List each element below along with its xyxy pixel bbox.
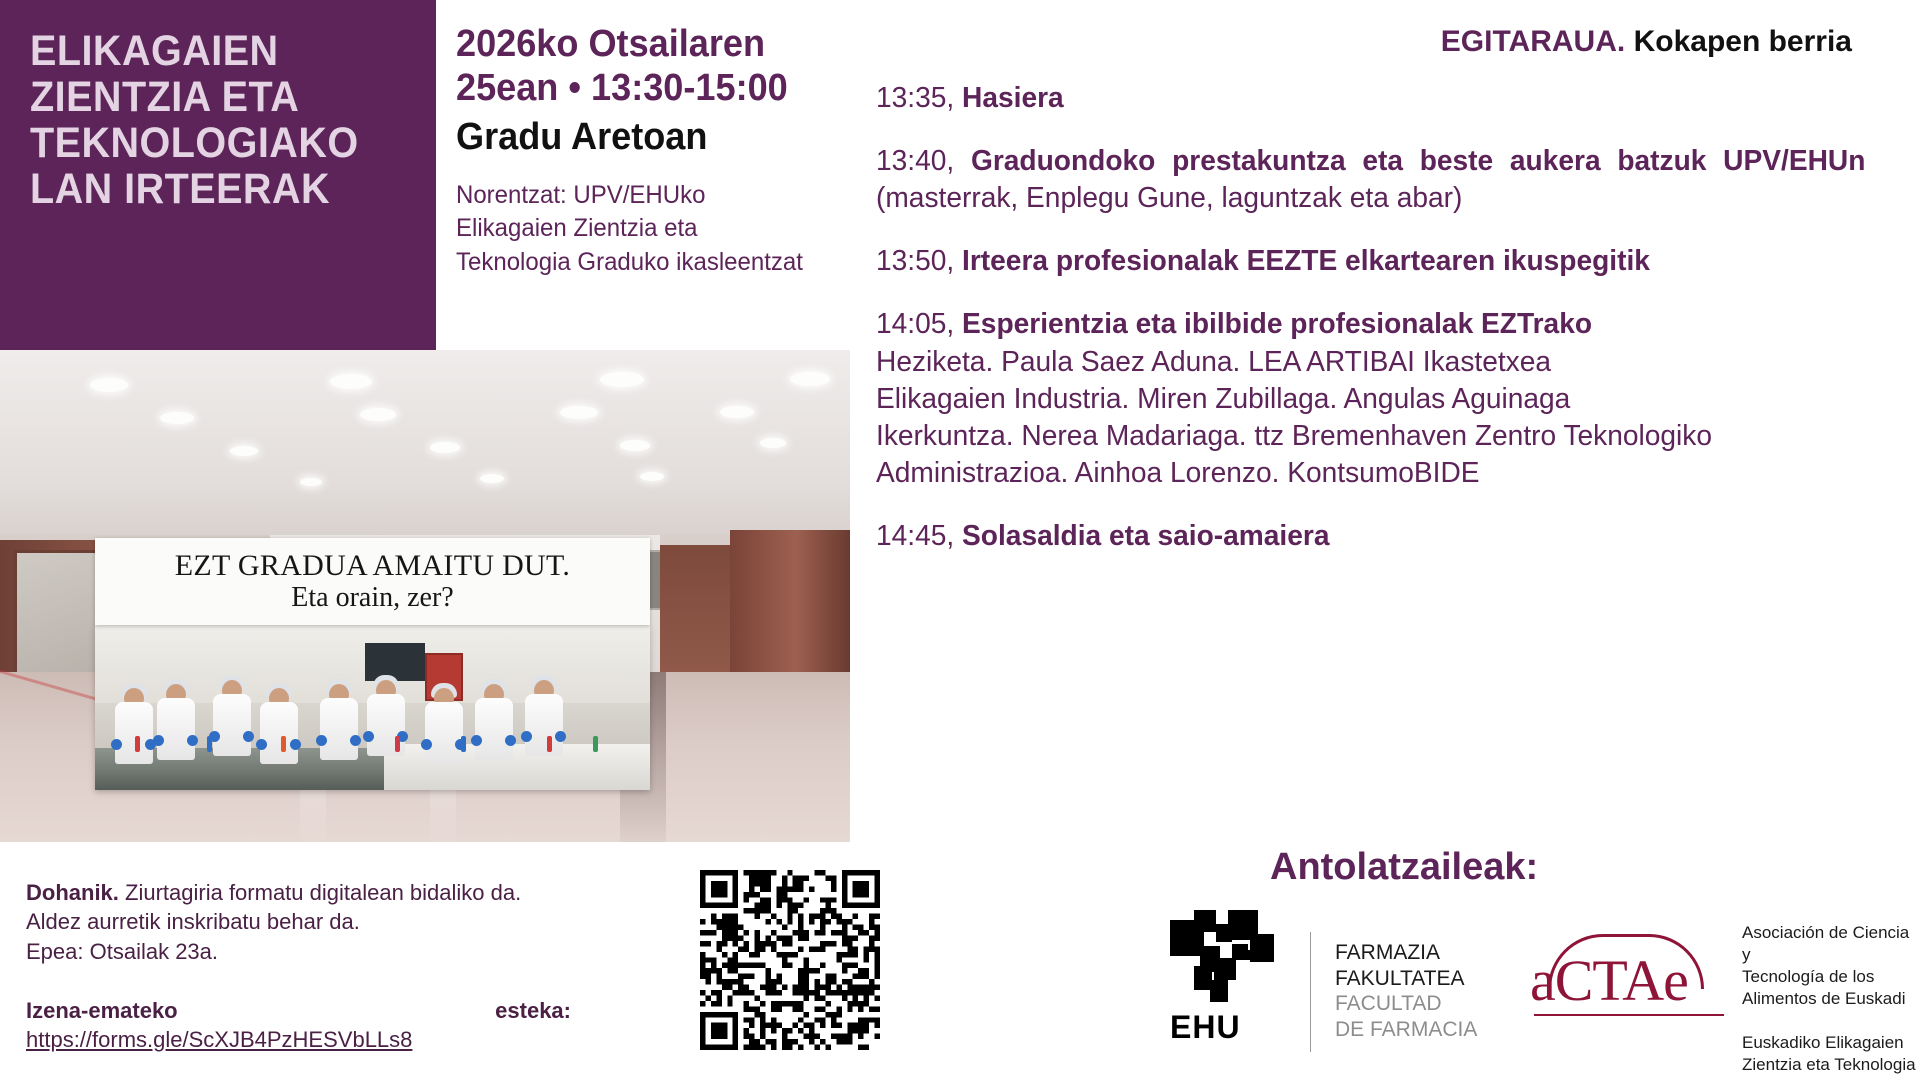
actae-logo: aCTAe bbox=[1530, 932, 1730, 1028]
agenda-item-title: Irteera profesionalak EEZTE elkartearen … bbox=[954, 245, 1650, 277]
qr-code-svg bbox=[700, 870, 880, 1050]
event-venue: Gradu Aretoan bbox=[456, 115, 836, 161]
agenda-heading-main: EGITARAUA. bbox=[1441, 25, 1625, 58]
photo-overlay-card: EZT GRADUA AMAITU DUT. Eta orain, zer? bbox=[95, 538, 650, 625]
info-line-3: Epea: Otsailak 23a. bbox=[26, 937, 571, 966]
agenda-item-time: 14:05, bbox=[876, 308, 954, 340]
lab-vial bbox=[395, 736, 400, 752]
lab-vial bbox=[135, 736, 140, 752]
actae-description: Asociación de Ciencia y Tecnología de lo… bbox=[1742, 922, 1920, 1080]
agenda-item-note: (masterrak, Enplegu Gune, laguntzak eta … bbox=[876, 182, 1462, 214]
qr-code-icon[interactable] bbox=[700, 870, 880, 1050]
agenda-item-detail: Ikerkuntza. Nerea Madariaga. ttz Bremenh… bbox=[876, 418, 1865, 455]
agenda-item-title: Graduondoko prestakuntza eta beste auker… bbox=[954, 145, 1865, 177]
lab-vial bbox=[593, 736, 598, 752]
agenda-heading: EGITARAUA. Kokapen berria bbox=[876, 24, 1896, 60]
agenda-item-time: 13:35, bbox=[876, 82, 954, 114]
agenda-item: 14:05, Esperientzia eta ibilbide profesi… bbox=[876, 306, 1896, 492]
poster-title: ELIKAGAIEN ZIENTZIA ETA TEKNOLOGIAKO LAN… bbox=[30, 28, 380, 212]
agenda-item-detail: Elikagaien Industria. Miren Zubillaga. A… bbox=[876, 381, 1865, 418]
lab-bench-right bbox=[384, 744, 650, 790]
ehu-wordmark: EHU bbox=[1170, 1009, 1290, 1046]
agenda-item-time: 13:40, bbox=[876, 145, 954, 177]
agenda-item: 13:50, Irteera profesionalak EEZTE elkar… bbox=[876, 243, 1896, 280]
agenda-item: 14:45, Solasaldia eta saio-amaiera bbox=[876, 518, 1896, 555]
free-note-rest: Ziurtagiria formatu digitalean bidaliko … bbox=[119, 880, 521, 905]
lab-monitor bbox=[365, 643, 425, 681]
event-details: 2026ko Otsailaren 25ean • 13:30-15:00 Gr… bbox=[456, 22, 856, 280]
free-note: Dohanik. Ziurtagiria formatu digitalean … bbox=[26, 878, 571, 907]
lab-vial bbox=[461, 736, 466, 752]
actae-underline bbox=[1534, 1014, 1724, 1016]
actae-desc-eu: Euskadiko Elikagaien Zientzia eta Teknol… bbox=[1742, 1032, 1920, 1080]
faculty-es-line2: DE FARMACIA bbox=[1335, 1017, 1477, 1043]
photo-ceiling-lights bbox=[0, 350, 850, 535]
faculty-es-line1: FACULTAD bbox=[1335, 991, 1477, 1017]
event-audience: Norentzat: UPV/EHUko Elikagaien Zientzia… bbox=[456, 179, 840, 280]
agenda-item-detail: Heziketa. Paula Saez Aduna. LEA ARTIBAI … bbox=[876, 344, 1865, 381]
free-note-bold: Dohanik. bbox=[26, 880, 119, 905]
ehu-emblem-icon bbox=[1170, 910, 1280, 1005]
actae-desc-es: Asociación de Ciencia y Tecnología de lo… bbox=[1742, 922, 1920, 1010]
registration-label-left: Izena-emateko bbox=[26, 996, 178, 1025]
overlay-headline: EZT GRADUA AMAITU DUT. bbox=[175, 550, 570, 582]
overlay-subhead: Eta orain, zer? bbox=[291, 582, 453, 613]
agenda-item-time: 13:50, bbox=[876, 245, 954, 277]
ehu-logo: EHU bbox=[1170, 910, 1290, 1055]
agenda-item: 13:40, Graduondoko prestakuntza eta best… bbox=[876, 143, 1896, 217]
lab-vial bbox=[281, 736, 286, 752]
lab-vial bbox=[207, 736, 212, 752]
actae-wordmark: aCTAe bbox=[1530, 952, 1730, 1010]
lab-vial bbox=[547, 736, 552, 752]
agenda-column: EGITARAUA. Kokapen berria 13:35, Hasiera… bbox=[876, 0, 1920, 842]
logo-divider bbox=[1310, 932, 1311, 1052]
faculty-eu-line1: FARMAZIA bbox=[1335, 940, 1477, 966]
agenda-item-title: Hasiera bbox=[954, 82, 1063, 114]
agenda-heading-note: Kokapen berria bbox=[1634, 25, 1852, 58]
registration-label-right: esteka: bbox=[495, 996, 571, 1025]
title-banner: ELIKAGAIEN ZIENTZIA ETA TEKNOLOGIAKO LAN… bbox=[0, 0, 436, 350]
agenda-item-detail: Administrazioa. Ainhoa Lorenzo. Kontsumo… bbox=[876, 455, 1865, 492]
info-line-2: Aldez aurretik inskribatu behar da. bbox=[26, 907, 571, 936]
event-date: 2026ko Otsailaren 25ean • 13:30-15:00 bbox=[456, 22, 836, 111]
lab-photo bbox=[95, 625, 650, 790]
registration-link[interactable]: https://forms.gle/ScXJB4PzHESVbLLs8 bbox=[26, 1025, 571, 1054]
registration-info: Dohanik. Ziurtagiria formatu digitalean … bbox=[26, 878, 571, 1054]
venue-photo: EZT GRADUA AMAITU DUT. Eta orain, zer? bbox=[0, 350, 850, 842]
registration-label-row: Izena-emateko esteka: bbox=[26, 996, 571, 1025]
organisers-title: Antolatzaileak: bbox=[1270, 846, 1538, 889]
faculty-eu-line2: FAKULTATEA bbox=[1335, 966, 1477, 992]
faculty-name: FARMAZIA FAKULTATEA FACULTAD DE FARMACIA bbox=[1335, 940, 1477, 1042]
agenda-item: 13:35, Hasiera bbox=[876, 80, 1896, 117]
agenda-item-time: 14:45, bbox=[876, 520, 954, 552]
agenda-item-title: Solasaldia eta saio-amaiera bbox=[954, 520, 1329, 552]
poster: ELIKAGAIEN ZIENTZIA ETA TEKNOLOGIAKO LAN… bbox=[0, 0, 1920, 1080]
agenda-item-title: Esperientzia eta ibilbide profesionalak … bbox=[954, 308, 1592, 340]
